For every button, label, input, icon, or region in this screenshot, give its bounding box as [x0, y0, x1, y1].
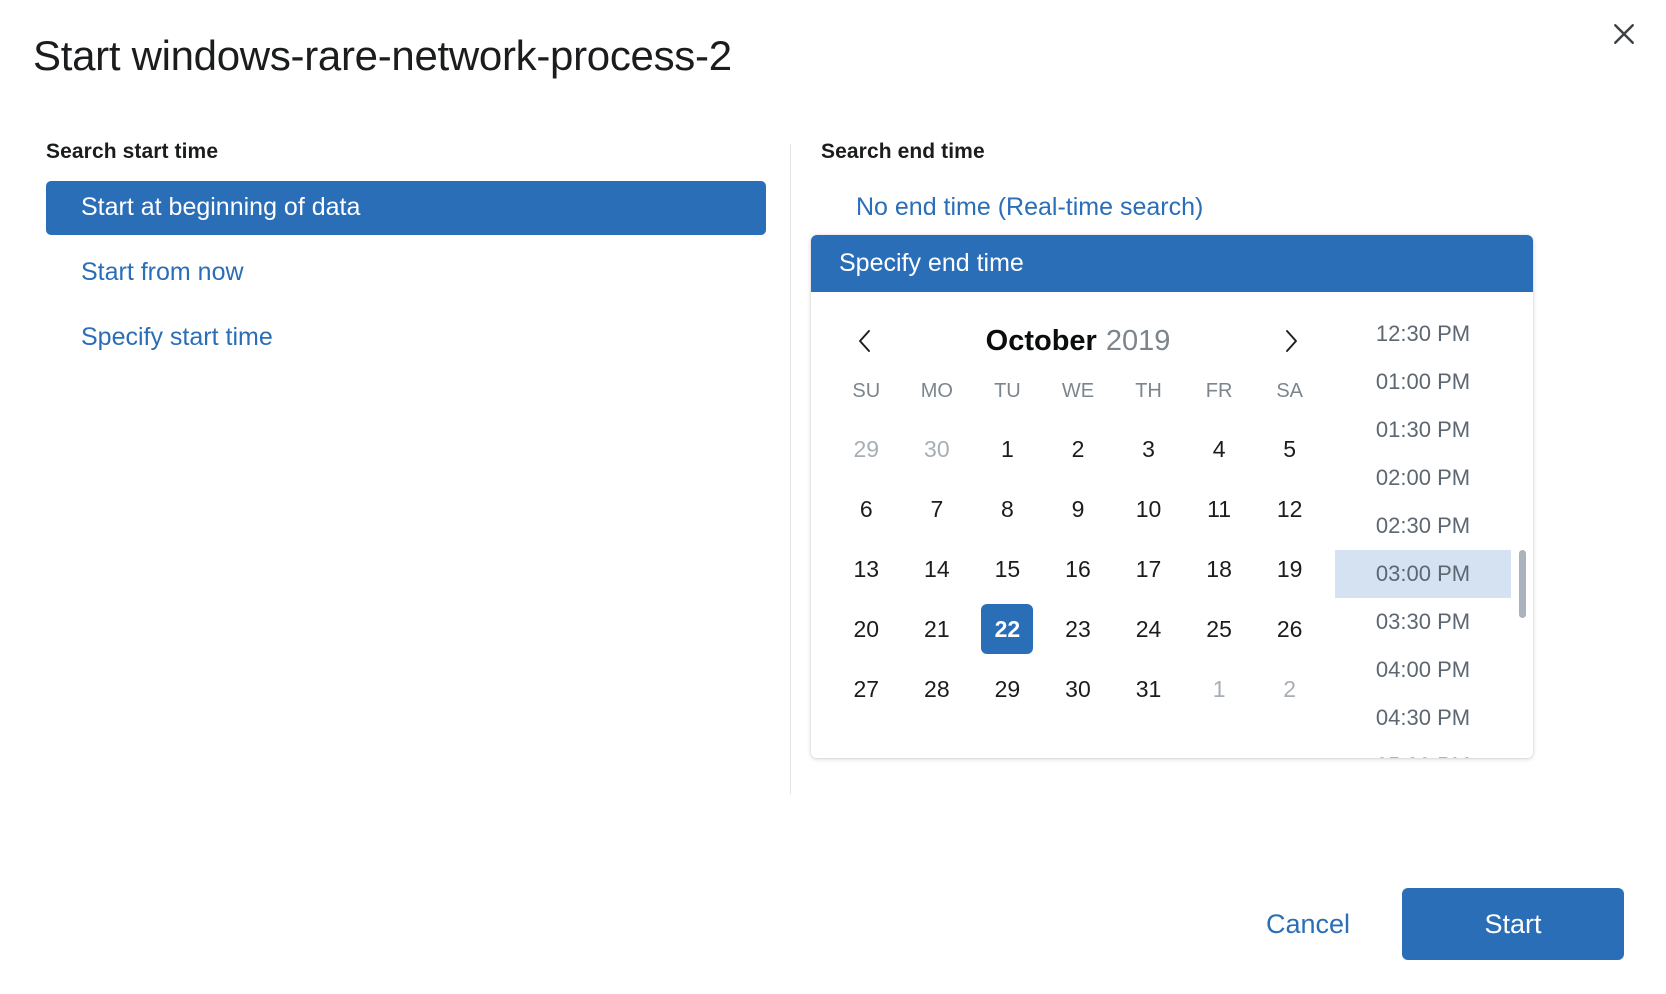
end-time-heading: Search end time	[811, 140, 1666, 164]
calendar-day[interactable]: 30	[1052, 664, 1104, 714]
calendar-day[interactable]: 15	[981, 544, 1033, 594]
calendar-day[interactable]: 12	[1264, 484, 1316, 534]
start-time-column: Search start time Start at beginning of …	[0, 140, 790, 800]
calendar-cell: 9	[1043, 479, 1114, 539]
calendar-day[interactable]: 6	[840, 484, 892, 534]
calendar-cell: 22	[972, 599, 1043, 659]
calendar-day[interactable]: 4	[1193, 424, 1245, 474]
start-option-from-now[interactable]: Start from now	[46, 246, 766, 300]
calendar-day[interactable]: 16	[1052, 544, 1104, 594]
calendar-month: October	[986, 325, 1097, 357]
calendar-cell: 16	[1043, 539, 1114, 599]
calendar-cell: 1	[972, 419, 1043, 479]
weekday-tu: TU	[972, 372, 1043, 419]
time-option[interactable]: 02:30 PM	[1335, 502, 1511, 550]
calendar-day[interactable]: 23	[1052, 604, 1104, 654]
calendar-cell: 1	[1184, 659, 1255, 719]
calendar-day[interactable]: 25	[1193, 604, 1245, 654]
close-icon[interactable]	[1604, 14, 1644, 54]
weekday-th: TH	[1113, 372, 1184, 419]
calendar-title: October2019	[885, 325, 1271, 358]
time-option-selected[interactable]: 03:00 PM	[1335, 550, 1511, 598]
calendar-header: October2019	[831, 310, 1325, 372]
calendar: October2019 SU	[811, 292, 1335, 758]
calendar-day[interactable]: 20	[840, 604, 892, 654]
time-list: 12:30 PM01:00 PM01:30 PM02:00 PM02:30 PM…	[1335, 310, 1533, 758]
dialog-body: Search start time Start at beginning of …	[0, 140, 1666, 800]
calendar-day[interactable]: 11	[1193, 484, 1245, 534]
time-list-scrollbar[interactable]	[1518, 310, 1526, 758]
calendar-day-selected[interactable]: 22	[981, 604, 1033, 654]
calendar-cell: 12	[1254, 479, 1325, 539]
calendar-day[interactable]: 1	[1193, 664, 1245, 714]
page-title: Start windows-rare-network-process-2	[33, 32, 732, 80]
calendar-cell: 21	[902, 599, 973, 659]
end-option-specify-end-time[interactable]: Specify end time	[811, 235, 1533, 292]
calendar-day[interactable]: 24	[1123, 604, 1175, 654]
start-option-specify-start-time[interactable]: Specify start time	[46, 311, 766, 365]
calendar-cell: 28	[902, 659, 973, 719]
calendar-grid: SU MO TU WE TH FR SA 2930123456789101112…	[831, 372, 1325, 719]
calendar-week-row: 272829303112	[831, 659, 1325, 719]
calendar-cell: 6	[831, 479, 902, 539]
calendar-day[interactable]: 17	[1123, 544, 1175, 594]
calendar-cell: 26	[1254, 599, 1325, 659]
calendar-cell: 11	[1184, 479, 1255, 539]
calendar-day[interactable]: 7	[911, 484, 963, 534]
calendar-day[interactable]: 10	[1123, 484, 1175, 534]
calendar-cell: 7	[902, 479, 973, 539]
weekday-we: WE	[1043, 372, 1114, 419]
calendar-day[interactable]: 29	[840, 424, 892, 474]
time-option[interactable]: 12:30 PM	[1335, 310, 1511, 358]
start-search-dialog: Start windows-rare-network-process-2 Sea…	[0, 0, 1666, 994]
calendar-year: 2019	[1106, 325, 1171, 357]
calendar-week-row: 6789101112	[831, 479, 1325, 539]
start-time-heading: Search start time	[46, 140, 764, 164]
calendar-day[interactable]: 2	[1264, 664, 1316, 714]
time-option[interactable]: 05:00 PM	[1335, 742, 1511, 758]
calendar-cell: 24	[1113, 599, 1184, 659]
calendar-day[interactable]: 5	[1264, 424, 1316, 474]
end-option-no-end-time[interactable]: No end time (Real-time search)	[811, 181, 1666, 235]
calendar-day[interactable]: 21	[911, 604, 963, 654]
calendar-day[interactable]: 27	[840, 664, 892, 714]
calendar-cell: 19	[1254, 539, 1325, 599]
weekday-header-row: SU MO TU WE TH FR SA	[831, 372, 1325, 419]
calendar-days-body: 2930123456789101112131415161718192021222…	[831, 419, 1325, 719]
calendar-cell: 4	[1184, 419, 1255, 479]
start-option-beginning-of-data[interactable]: Start at beginning of data	[46, 181, 766, 235]
time-option[interactable]: 04:30 PM	[1335, 694, 1511, 742]
calendar-day[interactable]: 30	[911, 424, 963, 474]
start-button[interactable]: Start	[1402, 888, 1624, 960]
spacer	[46, 235, 764, 246]
calendar-day[interactable]: 2	[1052, 424, 1104, 474]
calendar-cell: 18	[1184, 539, 1255, 599]
calendar-cell: 14	[902, 539, 973, 599]
calendar-cell: 30	[1043, 659, 1114, 719]
calendar-week-row: 20212223242526	[831, 599, 1325, 659]
specify-end-time-panel: Specify end time October2019	[811, 235, 1533, 758]
weekday-sa: SA	[1254, 372, 1325, 419]
time-option[interactable]: 03:30 PM	[1335, 598, 1511, 646]
cancel-button[interactable]: Cancel	[1256, 903, 1360, 946]
time-option[interactable]: 01:30 PM	[1335, 406, 1511, 454]
calendar-day[interactable]: 28	[911, 664, 963, 714]
calendar-day[interactable]: 18	[1193, 544, 1245, 594]
time-list-container[interactable]: 12:30 PM01:00 PM01:30 PM02:00 PM02:30 PM…	[1335, 292, 1533, 758]
calendar-day[interactable]: 3	[1123, 424, 1175, 474]
calendar-cell: 20	[831, 599, 902, 659]
calendar-cell: 23	[1043, 599, 1114, 659]
calendar-week-row: 13141516171819	[831, 539, 1325, 599]
time-list-scrollbar-thumb[interactable]	[1519, 550, 1526, 618]
chevron-left-icon[interactable]	[845, 321, 885, 361]
calendar-cell: 8	[972, 479, 1043, 539]
calendar-cell: 10	[1113, 479, 1184, 539]
calendar-cell: 25	[1184, 599, 1255, 659]
calendar-cell: 29	[972, 659, 1043, 719]
weekday-fr: FR	[1184, 372, 1255, 419]
end-time-column: Search end time No end time (Real-time s…	[791, 140, 1666, 800]
calendar-cell: 15	[972, 539, 1043, 599]
calendar-day[interactable]: 8	[981, 484, 1033, 534]
calendar-cell: 13	[831, 539, 902, 599]
calendar-day[interactable]: 1	[981, 424, 1033, 474]
calendar-cell: 2	[1043, 419, 1114, 479]
time-option[interactable]: 01:00 PM	[1335, 358, 1511, 406]
calendar-day[interactable]: 31	[1123, 664, 1175, 714]
spacer	[46, 300, 764, 311]
calendar-cell: 17	[1113, 539, 1184, 599]
chevron-right-icon[interactable]	[1271, 321, 1311, 361]
calendar-cell: 3	[1113, 419, 1184, 479]
calendar-day[interactable]: 19	[1264, 544, 1316, 594]
calendar-day[interactable]: 29	[981, 664, 1033, 714]
datetime-picker: October2019 SU	[811, 292, 1533, 758]
calendar-week-row: 293012345	[831, 419, 1325, 479]
calendar-cell: 29	[831, 419, 902, 479]
dialog-footer: Cancel Start	[0, 888, 1666, 960]
calendar-day[interactable]: 9	[1052, 484, 1104, 534]
calendar-cell: 27	[831, 659, 902, 719]
weekday-mo: MO	[902, 372, 973, 419]
time-option[interactable]: 04:00 PM	[1335, 646, 1511, 694]
calendar-cell: 31	[1113, 659, 1184, 719]
calendar-cell: 30	[902, 419, 973, 479]
calendar-day[interactable]: 14	[911, 544, 963, 594]
weekday-su: SU	[831, 372, 902, 419]
calendar-day[interactable]: 13	[840, 544, 892, 594]
calendar-cell: 5	[1254, 419, 1325, 479]
calendar-cell: 2	[1254, 659, 1325, 719]
calendar-day[interactable]: 26	[1264, 604, 1316, 654]
time-option[interactable]: 02:00 PM	[1335, 454, 1511, 502]
